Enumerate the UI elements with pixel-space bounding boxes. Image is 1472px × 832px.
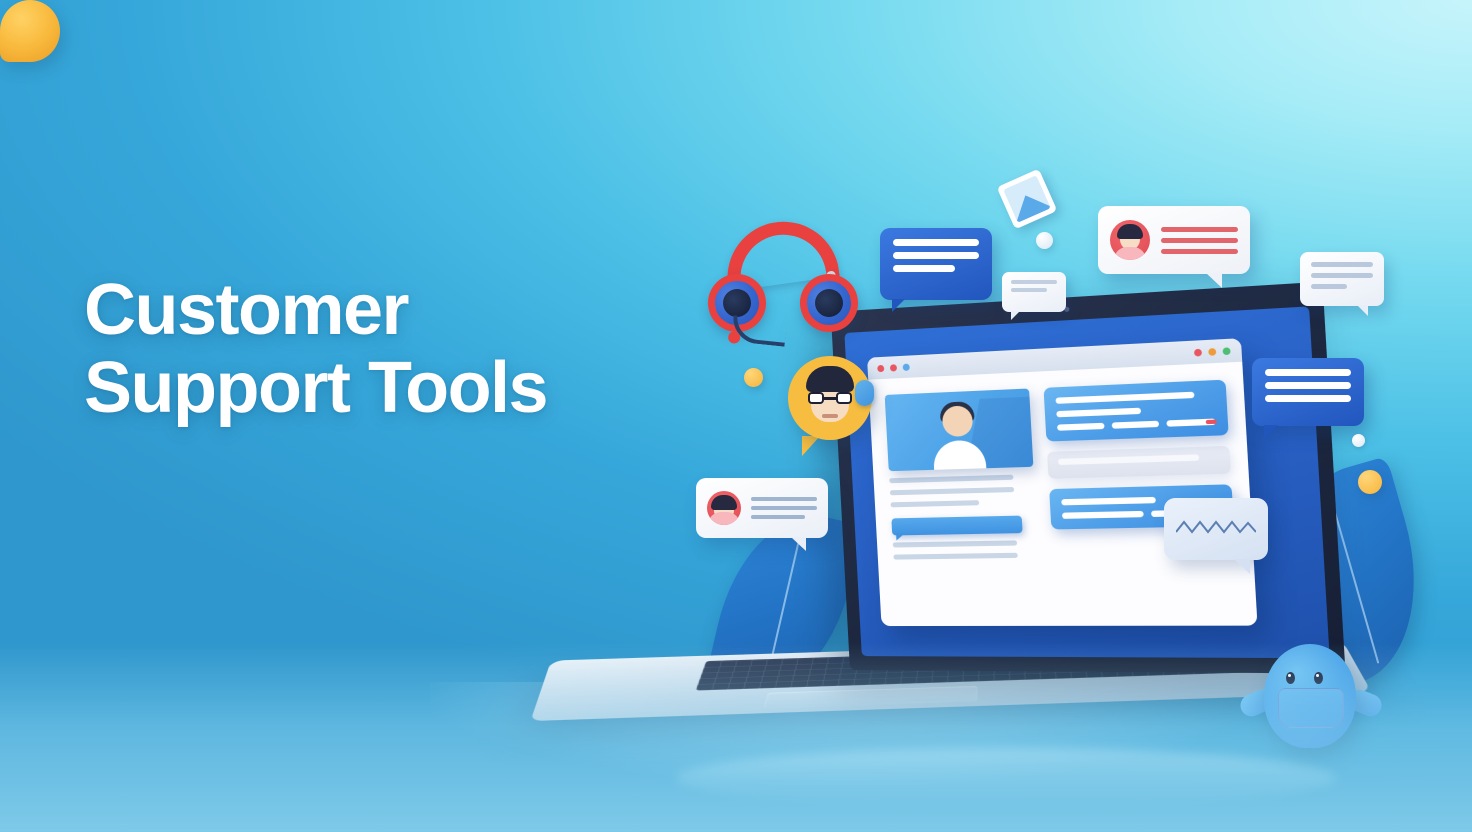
search-placeholder-line [1058,454,1199,465]
chat-bubble-blue-right [1252,358,1364,426]
bubble-line [1011,288,1047,292]
text-line [890,500,979,507]
glasses-bridge [824,397,836,400]
trackpad[interactable] [764,686,978,708]
user-avatar-photo [885,388,1034,471]
minimize-dot-icon[interactable] [890,364,897,371]
mascot-face-mask [1278,688,1344,728]
status-dot-red-icon[interactable] [1194,348,1202,356]
chatbot-mascot [1248,636,1372,752]
bubble-line [751,497,817,501]
avatar-shirt [1114,247,1146,260]
search-field[interactable] [1047,446,1231,479]
lens-left [808,392,824,404]
squiggle-icon [1176,518,1256,538]
bubble-line [1161,249,1238,254]
bubble-line [893,265,955,272]
bubble-line [1161,238,1238,243]
avatar-bubble-tail [802,436,820,456]
support-agent-avatar [788,356,872,456]
traffic-lights-left[interactable] [877,363,910,372]
bubble-tail [892,299,905,312]
bubble-tail [1011,311,1020,320]
bubble-line [1265,395,1351,402]
bubble-line [1311,273,1373,278]
avatar-shirt [708,512,740,525]
bubble-line [893,252,979,259]
bubble-line [1311,284,1347,289]
text-line [890,487,1014,495]
browser-window[interactable] [867,338,1258,626]
agent-face [800,366,860,430]
chat-bubble-avatar-left [696,478,828,538]
eyeglasses-icon [808,392,852,404]
bubble-lines [1161,227,1238,254]
traffic-lights-right[interactable] [1194,347,1231,356]
close-dot-icon[interactable] [877,364,884,371]
laptop-reflection [676,748,1336,808]
card-line [1056,392,1195,404]
card-chip [1112,421,1160,429]
chat-bubble-typing-squiggle [1164,498,1268,560]
mascot-eye-left [1286,672,1295,684]
unread-marker-icon [1206,420,1217,425]
bubble-line [1265,382,1351,389]
lens-right [836,392,852,404]
white-sphere-small-icon [1352,434,1365,447]
card-line [1062,497,1156,506]
contact-avatar-female [1110,220,1150,260]
card-chip [1062,511,1144,519]
bubble-line [893,239,979,246]
bubble-line [1011,280,1057,284]
chat-bubble-blue-top [880,228,992,300]
contact-avatar-female [707,491,741,525]
bubble-tail [791,537,806,551]
text-line [893,540,1018,547]
reply-chat-button[interactable] [891,516,1022,536]
chat-bubble-white-small [1002,272,1066,312]
card-chip-row [1057,419,1216,431]
white-sphere-icon [1036,232,1053,249]
image-photo-icon [997,169,1058,230]
headline-line-1: Customer [84,270,408,350]
bubble-line [1311,262,1373,267]
chat-bubble-avatar-red [1098,206,1250,274]
profile-column [885,388,1039,559]
yellow-sphere-small-icon [744,368,763,387]
avatar-hair [1117,224,1143,239]
bubble-tail [1264,425,1278,439]
bubble-lines [751,497,817,519]
earcup-inner [813,287,845,319]
avatar-hair [711,495,737,510]
text-line [889,475,1013,484]
bubble-tail [1357,305,1368,316]
bubble-line [1161,227,1238,232]
maximize-dot-icon[interactable] [903,363,910,370]
bubble-line [1265,369,1351,376]
mascot-eye-right [1314,672,1323,684]
illustration-stage: Customer Support Tools [0,0,1472,832]
bubble-tail [1206,273,1222,288]
chat-bubble-white-right [1300,252,1384,306]
bubble-tail [1234,559,1250,574]
laptop-lid [831,282,1346,674]
agent-headset-earcup [855,380,874,406]
bubble-line [751,515,805,519]
agent-mouth [822,414,838,418]
card-line [1057,408,1142,418]
agent-hair [806,366,854,392]
status-dot-green-icon[interactable] [1222,347,1230,355]
status-dot-orange-icon[interactable] [1208,347,1216,355]
support-headset-icon [716,222,846,332]
text-line [893,553,1018,560]
earcup-inner [721,287,753,319]
card-chip [1057,423,1104,431]
yellow-sphere-icon [1358,470,1382,494]
ticket-card-top[interactable] [1044,380,1229,442]
bubble-line [751,506,817,510]
gold-teardrop-bubble-icon [0,0,60,62]
